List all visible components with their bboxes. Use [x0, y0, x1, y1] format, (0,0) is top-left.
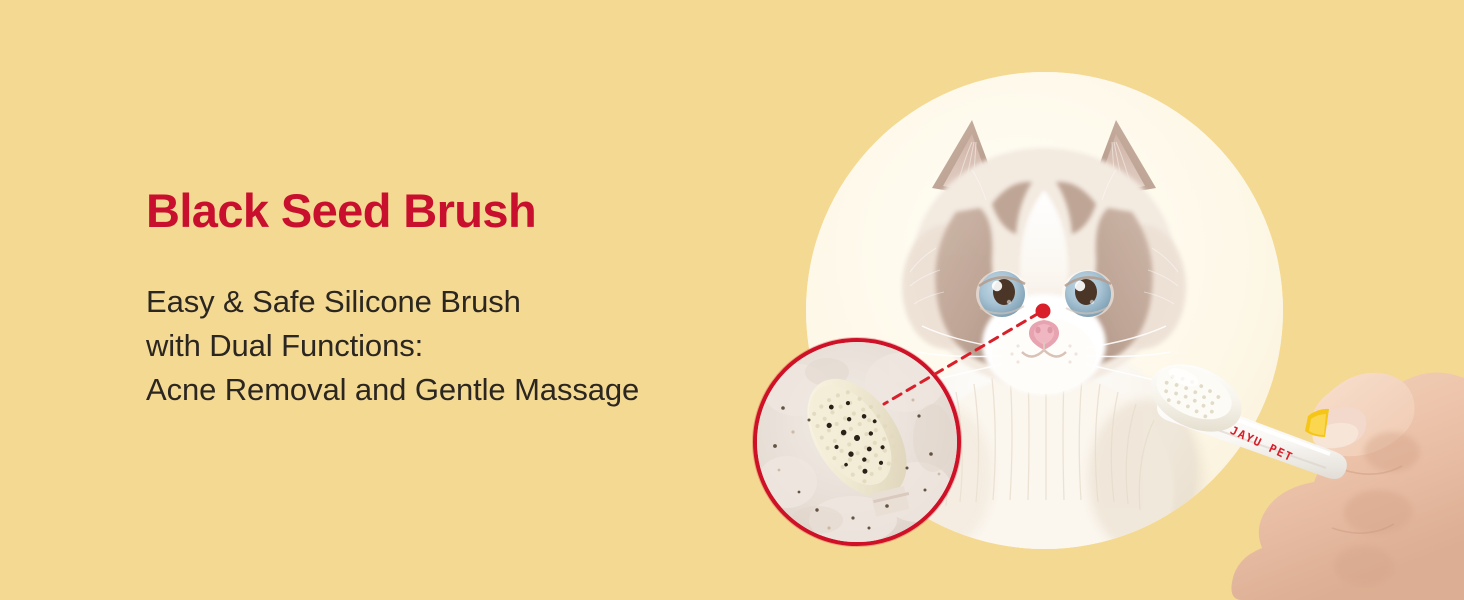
subtitle-line-1: Easy & Safe Silicone Brush: [146, 280, 766, 324]
page-title: Black Seed Brush: [146, 186, 766, 235]
magnifier-circle: [753, 338, 961, 546]
text-block: Black Seed Brush Easy & Safe Silicone Br…: [146, 186, 766, 412]
product-banner: JAYU PET: [0, 0, 1464, 600]
subtitle: Easy & Safe Silicone Brush with Dual Fun…: [146, 280, 766, 412]
subtitle-line-3: Acne Removal and Gentle Massage: [146, 368, 766, 412]
magnifier-content: [757, 342, 957, 542]
hand: [1231, 372, 1464, 600]
subtitle-line-2: with Dual Functions:: [146, 324, 766, 368]
